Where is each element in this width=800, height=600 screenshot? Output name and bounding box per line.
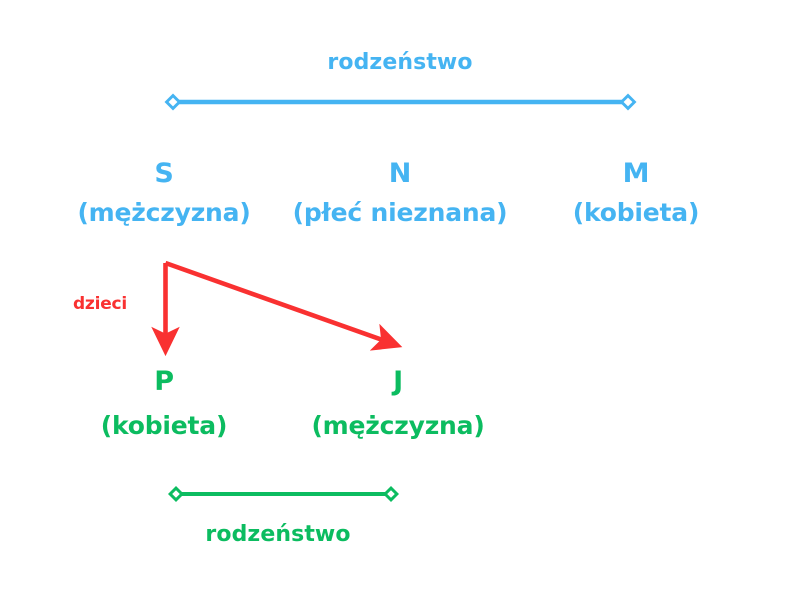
parent-node-gender-s: (mężczyzna) <box>64 198 264 228</box>
parent-node-initial-s: S <box>64 158 264 190</box>
top-sibling-connector <box>165 94 637 111</box>
child-node-gender-p: (kobieta) <box>64 411 264 441</box>
top-sibling-left-diamond <box>165 94 182 111</box>
bottom-sibling-right-diamond-center <box>387 490 395 498</box>
top-sibling-right-diamond-center <box>624 98 633 107</box>
children-relation-label: dzieci <box>40 294 160 314</box>
top-sibling-left-diamond-center <box>169 98 178 107</box>
top-sibling-relation-label: rodzeństwo <box>230 50 570 76</box>
bottom-sibling-left-diamond <box>168 486 184 502</box>
child-node-initial-j: J <box>290 366 506 398</box>
parent-node-initial-m: M <box>536 158 736 190</box>
bottom-sibling-connector <box>168 486 399 502</box>
bottom-sibling-left-diamond-center <box>172 490 180 498</box>
top-sibling-right-diamond <box>620 94 637 111</box>
parent-node-gender-n: (płeć nieznana) <box>278 198 522 228</box>
parent-node-initial-n: N <box>278 158 522 190</box>
bottom-sibling-right-diamond <box>383 486 399 502</box>
child-node-initial-p: P <box>64 366 264 398</box>
parent-node-gender-m: (kobieta) <box>536 198 736 228</box>
children-arrows <box>166 263 389 342</box>
bottom-sibling-relation-label: rodzeństwo <box>163 522 393 548</box>
family-relationship-diagram: rodzeństwo S (męż <box>0 0 800 600</box>
child-node-gender-j: (mężczyzna) <box>290 411 506 441</box>
children-arrow-to-j <box>166 263 389 342</box>
